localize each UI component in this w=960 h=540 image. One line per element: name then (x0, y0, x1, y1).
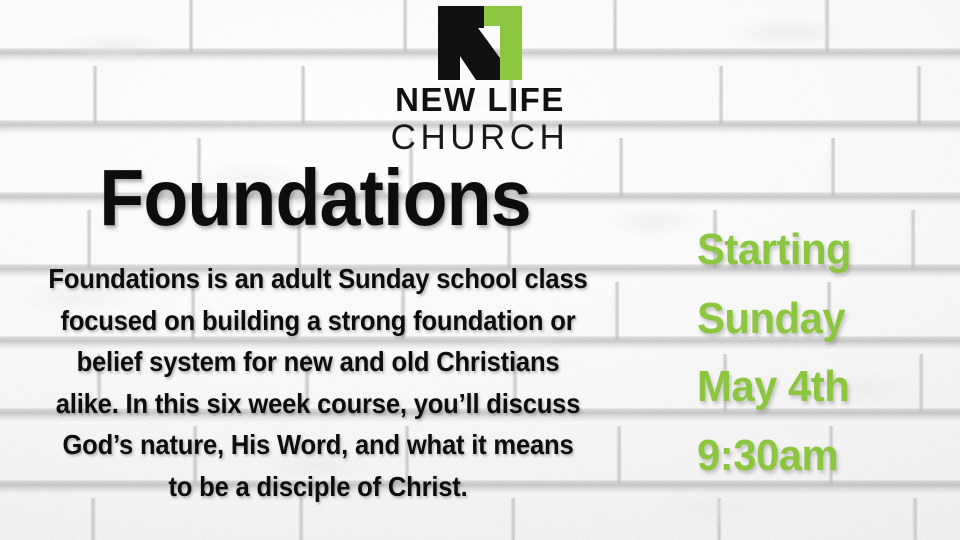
logo-wordmark: NEW LIFE (0, 83, 960, 116)
page-title: Foundations (25, 160, 605, 236)
description-line: Foundations is an adult Sunday school cl… (39, 258, 597, 300)
description-line: belief system for new and old Christians (39, 341, 597, 383)
schedule-details: Starting Sunday May 4th 9:30am (697, 216, 935, 491)
promo-poster: NEW LIFE CHURCH Foundations Foundations … (0, 0, 960, 540)
church-logo: NEW LIFE CHURCH (0, 6, 960, 155)
schedule-line: Sunday (697, 285, 935, 354)
schedule-line: May 4th (697, 353, 935, 422)
schedule-line: Starting (697, 216, 935, 285)
poster-content: NEW LIFE CHURCH Foundations Foundations … (0, 0, 960, 540)
description-line: God’s nature, His Word, and what it mean… (39, 424, 597, 466)
description-line: alike. In this six week course, you’ll d… (39, 383, 597, 425)
logo-subword: CHURCH (0, 120, 960, 155)
new-life-church-n-monogram-icon (438, 6, 522, 80)
description-line: focused on building a strong foundation … (39, 300, 597, 342)
description-line: to be a disciple of Christ. (39, 466, 597, 508)
schedule-line: 9:30am (697, 422, 935, 491)
description-paragraph: Foundations is an adult Sunday school cl… (39, 258, 597, 507)
